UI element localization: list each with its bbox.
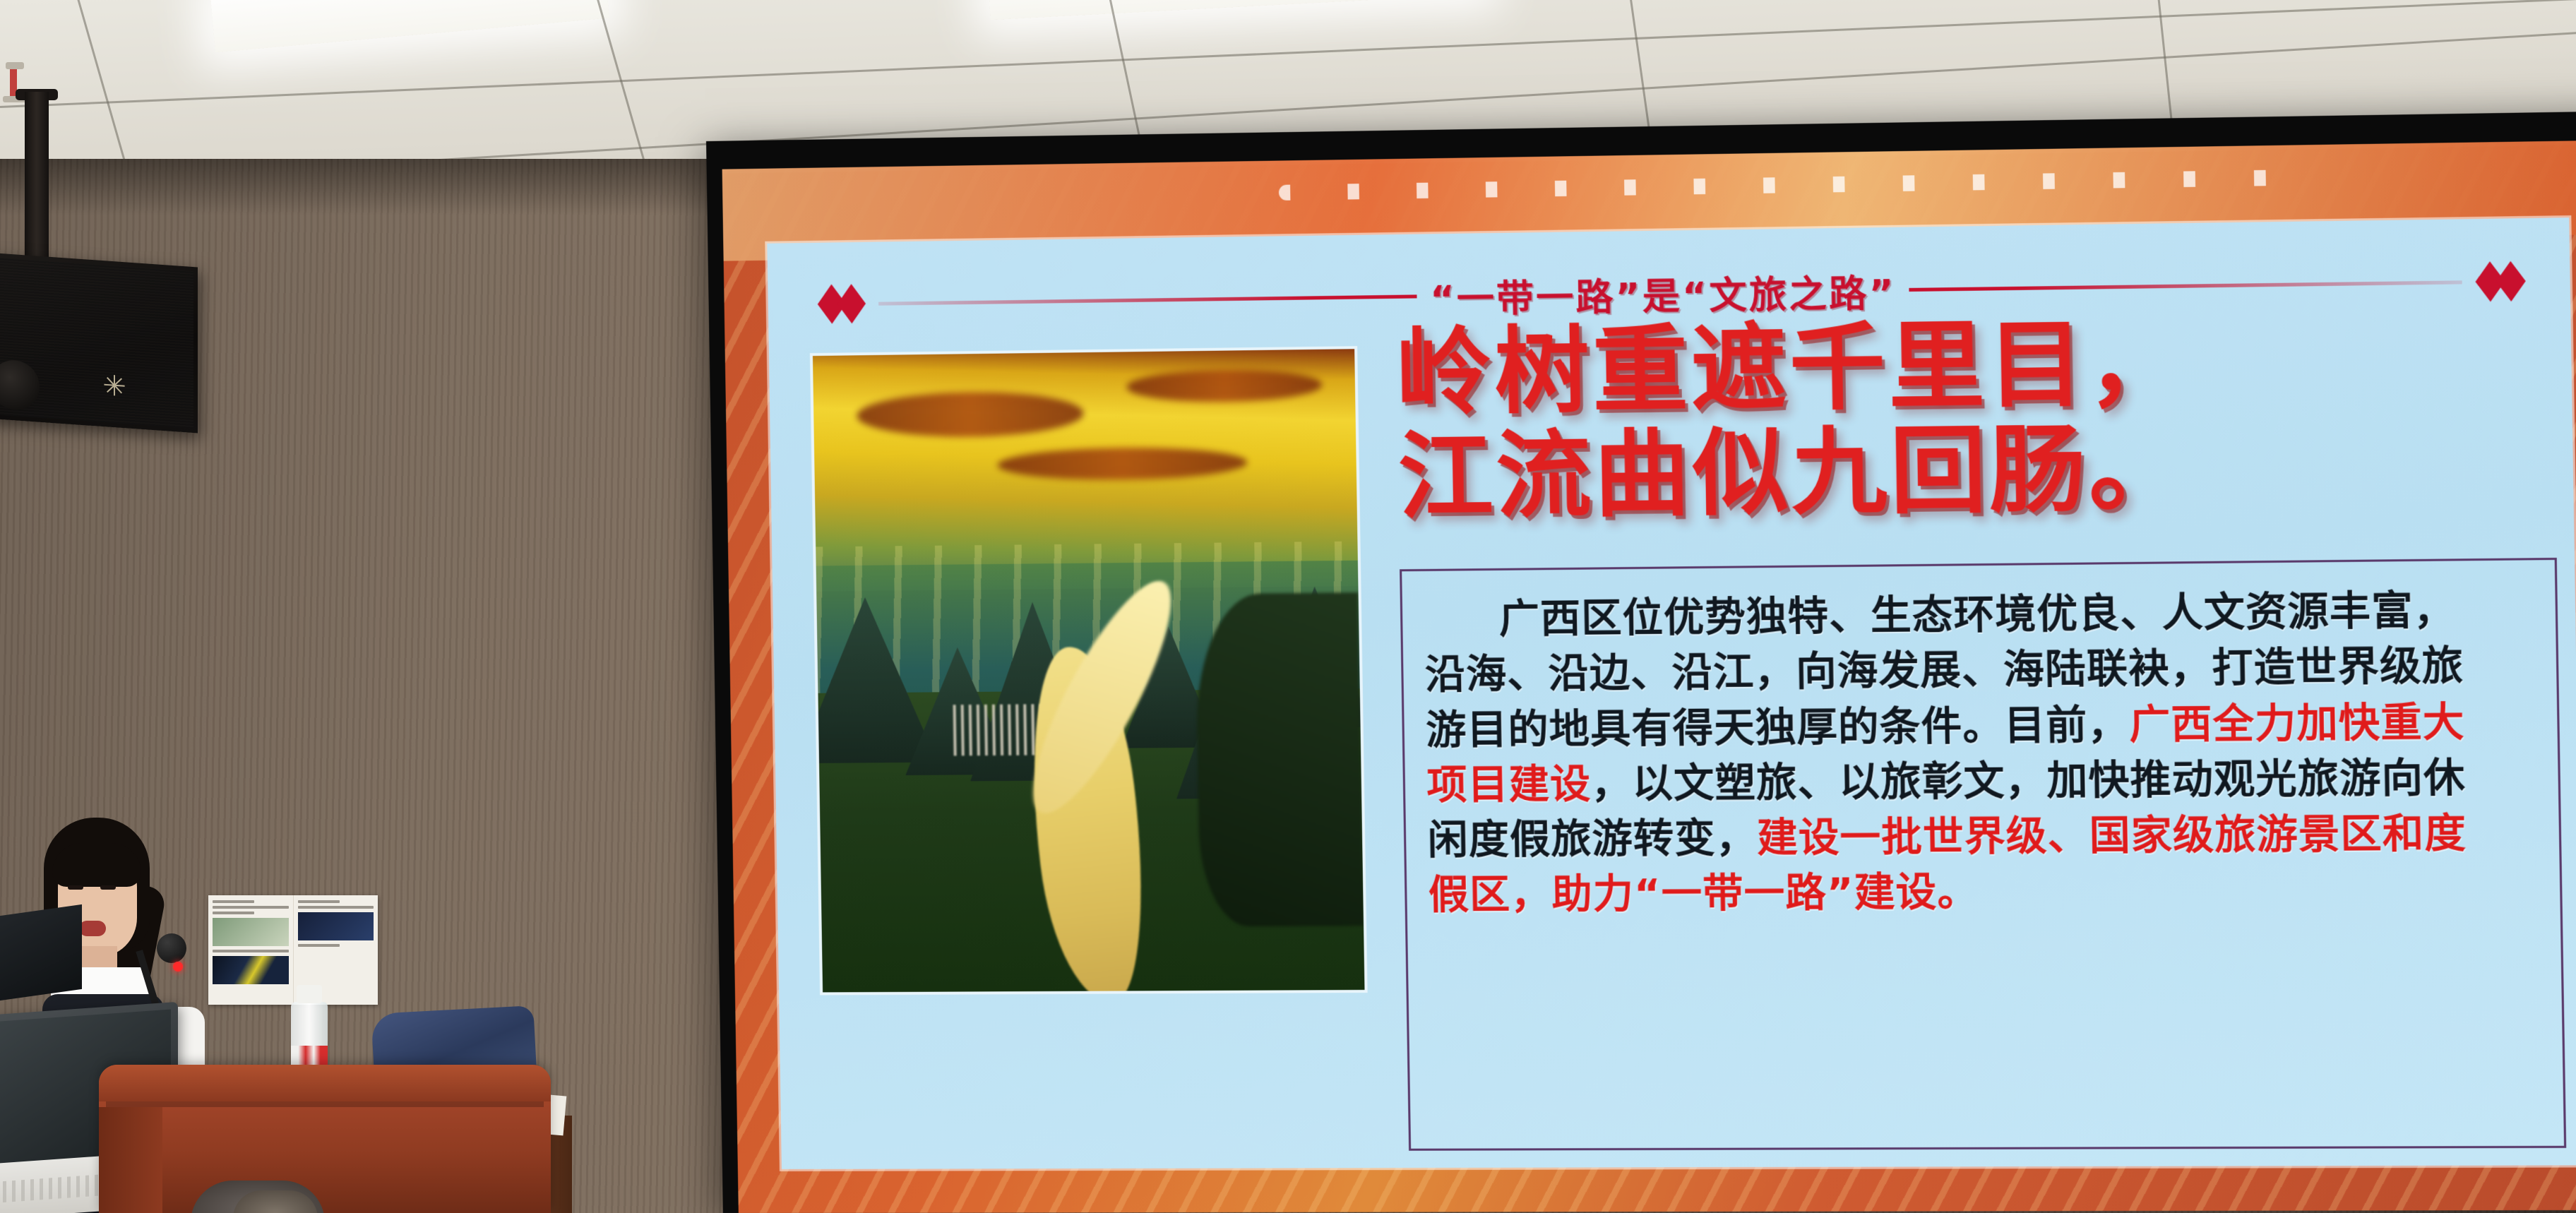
slide-body-textbox: 广西区位优势独特、生态环境优良、人文资源丰富，沿海、沿边、沿江，向海发展、海陆联… <box>1400 558 2566 1151</box>
body-text-line-4: 项目建设，以文塑旅、以旅彰文，加快推动观光旅游向休 <box>1426 749 2539 813</box>
emphasis-text-5-2: 建设一批世界级、国家级旅游景区和度 <box>1757 810 2467 861</box>
eye-right <box>100 885 116 890</box>
body-text-line-1: 广西区位优势独特、生态环境优良、人文资源丰富， <box>1424 582 2536 647</box>
microphone-led-indicator <box>173 962 183 972</box>
diamond-icon <box>2495 261 2526 301</box>
projection-screen-frame: “一带一路”是“文旅之路” <box>706 111 2576 1213</box>
podium-edge <box>106 1101 544 1107</box>
body-text-line-3: 游目的地具有得天独厚的条件。目前，广西全力加快重大 <box>1426 693 2539 758</box>
poster-text-line <box>213 906 289 909</box>
podium-side-panel <box>99 1107 162 1213</box>
poster-text-line <box>213 912 254 914</box>
poster-text-line <box>298 906 374 909</box>
fluorescent-ceiling-light <box>210 0 609 52</box>
bottle-cap <box>297 985 322 1003</box>
podium <box>99 1065 551 1213</box>
slide-body-lines: 广西区位优势独特、生态环境优良、人文资源丰富，沿海、沿边、沿江，向海发展、海陆联… <box>1424 582 2541 923</box>
poem-line-1: 岭树重遮千里目， <box>1395 304 2554 427</box>
mouth <box>79 921 106 936</box>
fire-sprinkler-icon <box>6 62 24 69</box>
poster-image <box>213 918 289 946</box>
body-text-2-1: 沿海、沿边、沿江，向海发展、海陆联袂，打造世界级旅 <box>1425 643 2464 698</box>
poster-image <box>213 956 289 984</box>
poster-image <box>298 912 374 940</box>
body-text-5-1: 闲度假旅游转变， <box>1427 815 1758 864</box>
conference-room-scene: ✳ <box>0 0 2576 1213</box>
body-text-1-1: 广西区位优势独特、生态环境优良、人文资源丰富， <box>1498 587 2456 643</box>
water-bottle <box>290 985 329 1073</box>
poster-text-line <box>213 950 289 952</box>
emphasis-text-4-1: 项目建设 <box>1426 761 1592 808</box>
secondary-monitor[interactable] <box>0 904 82 1002</box>
slide-poem: 岭树重遮千里目， 江流曲似九回肠。 <box>1395 304 2556 531</box>
ceiling-speaker: ✳ <box>0 253 198 434</box>
slide-photo-landscape <box>813 349 1365 992</box>
fluorescent-ceiling-light-2 <box>987 0 1484 20</box>
poem-line-2: 江流曲似九回肠。 <box>1397 410 2556 531</box>
presentation-slide: “一带一路”是“文旅之路” <box>767 217 2576 1169</box>
wall-poster-panel-left <box>208 895 293 1005</box>
body-text-line-5: 闲度假旅游转变，建设一批世界级、国家级旅游景区和度 <box>1427 806 2540 868</box>
right-diamond-ornament <box>2475 261 2526 301</box>
body-text-line-6: 假区，助力“一带一路”建设。 <box>1428 861 2541 924</box>
header-rule-left <box>878 294 1417 305</box>
body-text-line-2: 沿海、沿边、沿江，向海发展、海陆联袂，打造世界级旅 <box>1424 638 2537 703</box>
left-diamond-ornament <box>817 284 866 324</box>
hair-bangs <box>52 843 141 887</box>
body-text-4-2: ，以文塑旅、以旅彰文，加快推动观光旅游向休 <box>1591 754 2466 807</box>
emphasis-text-6-1: 假区，助力“一带一路”建设。 <box>1428 869 1979 919</box>
body-text-3-1: 游目的地具有得天独厚的条件。目前， <box>1426 701 2130 753</box>
poster-text-line <box>298 900 340 903</box>
speaker-mount-pole <box>25 92 49 268</box>
poster-text-line <box>298 944 340 947</box>
projection-screen-surface: “一带一路”是“文旅之路” <box>722 141 2576 1213</box>
poster-text-line <box>213 900 254 903</box>
eye-left <box>68 885 83 890</box>
microphone-icon <box>157 933 186 963</box>
emphasis-text-3-2: 广西全力加快重大 <box>2129 698 2465 748</box>
diamond-icon <box>837 284 866 324</box>
photo-dark-hillside <box>1195 592 1364 926</box>
header-rule-right <box>1909 280 2462 292</box>
podium-top-surface <box>99 1065 551 1101</box>
yamaha-logo-icon: ✳ <box>99 370 130 403</box>
